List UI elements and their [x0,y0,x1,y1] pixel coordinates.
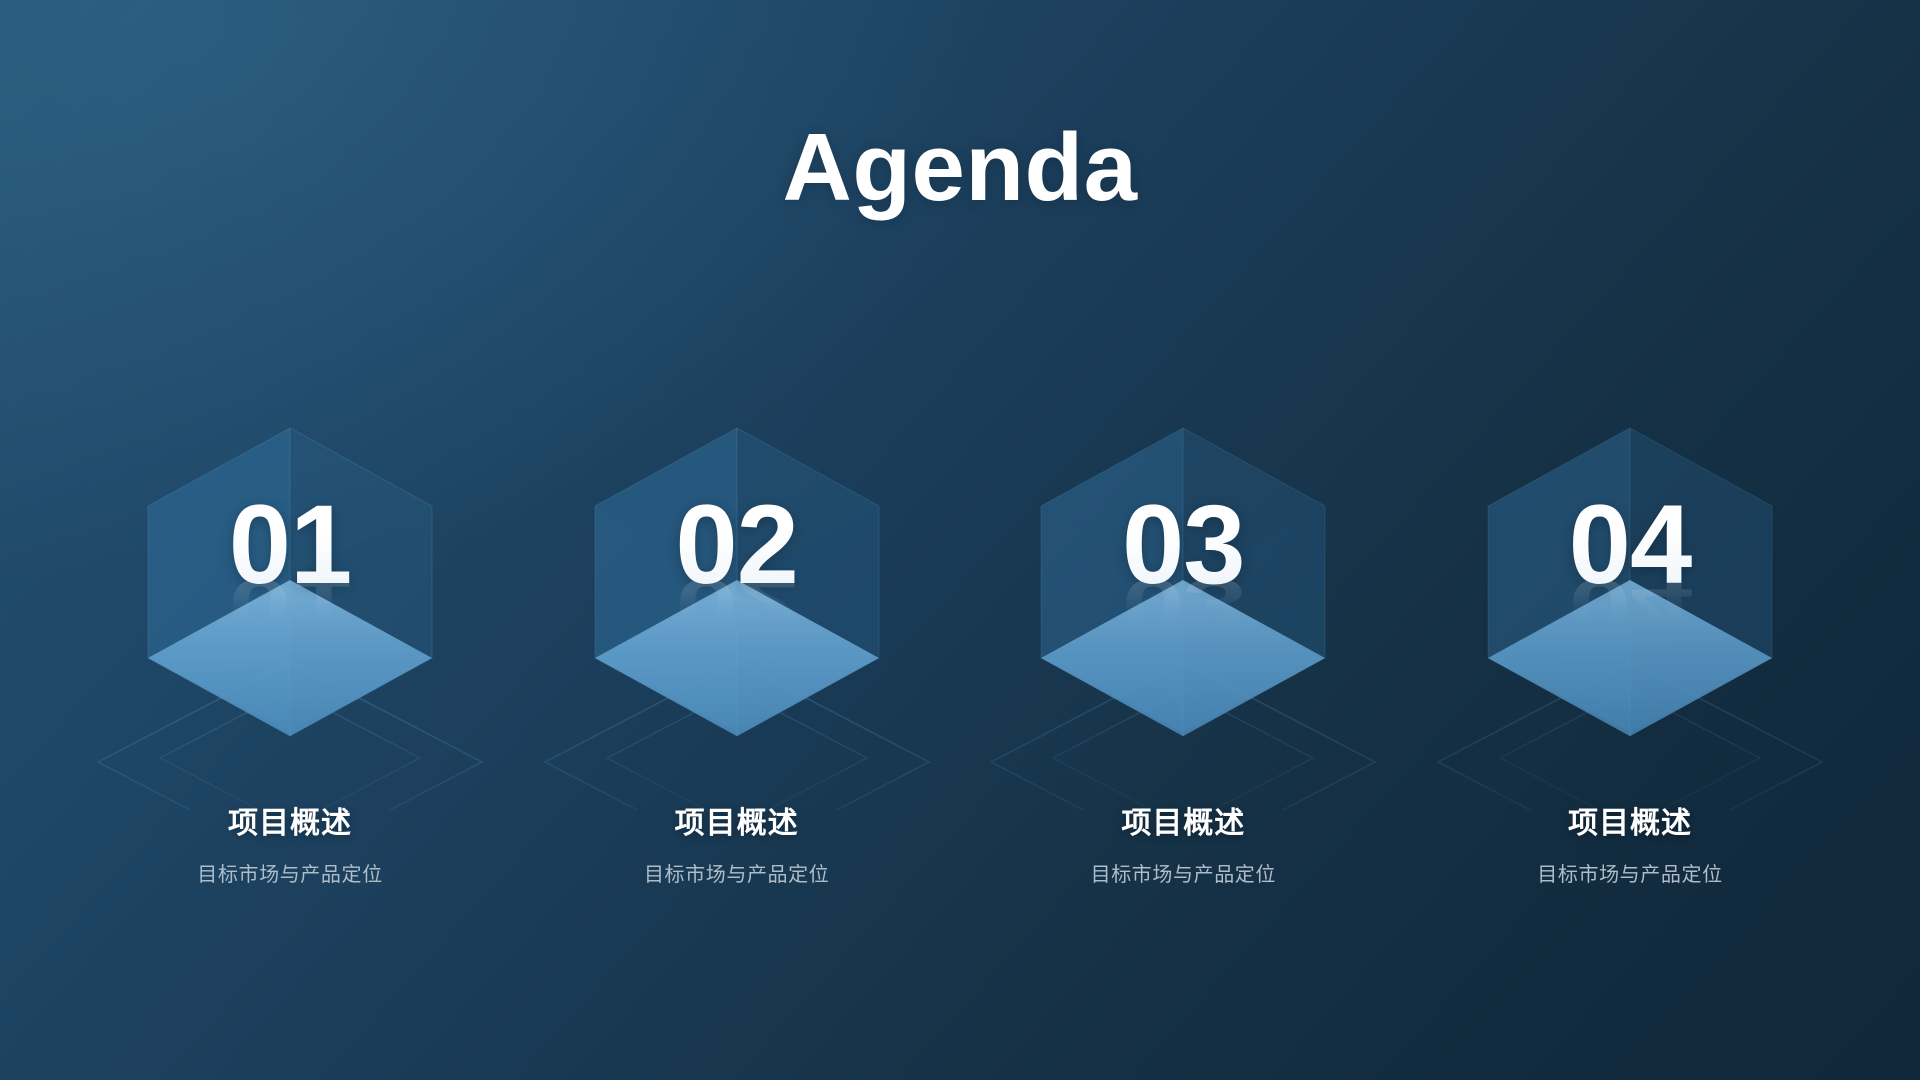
isometric-cube-icon: 01 01 [90,410,490,810]
page-title: Agenda [782,118,1137,219]
agenda-item-04[interactable]: 04 04 项目概述 目标市场与产品定位 [1430,410,1830,930]
agenda-item-subtitle: 目标市场与产品定位 [537,858,937,887]
agenda-item-02[interactable]: 02 02 项目概述 目标市场与产品定位 [537,410,937,930]
isometric-cube-icon: 03 03 [983,410,1383,810]
agenda-item-heading: 项目概述 [90,798,490,842]
agenda-item-03[interactable]: 03 03 项目概述 目标市场与产品定位 [983,410,1383,930]
agenda-items-row: 01 01 项目概述 目标市场与产品定位 [90,410,1830,930]
agenda-item-subtitle: 目标市场与产品定位 [1430,858,1830,887]
agenda-item-subtitle: 目标市场与产品定位 [90,858,490,887]
isometric-cube-icon: 04 04 [1430,410,1830,810]
agenda-item-heading: 项目概述 [537,798,937,842]
isometric-cube-icon: 02 02 [537,410,937,810]
agenda-item-01[interactable]: 01 01 项目概述 目标市场与产品定位 [90,410,490,930]
agenda-item-heading: 项目概述 [983,798,1383,842]
agenda-item-subtitle: 目标市场与产品定位 [983,858,1383,887]
agenda-slide: Agenda [0,0,1920,1080]
slide-title-container: Agenda [0,118,1920,219]
agenda-item-heading: 项目概述 [1430,798,1830,842]
